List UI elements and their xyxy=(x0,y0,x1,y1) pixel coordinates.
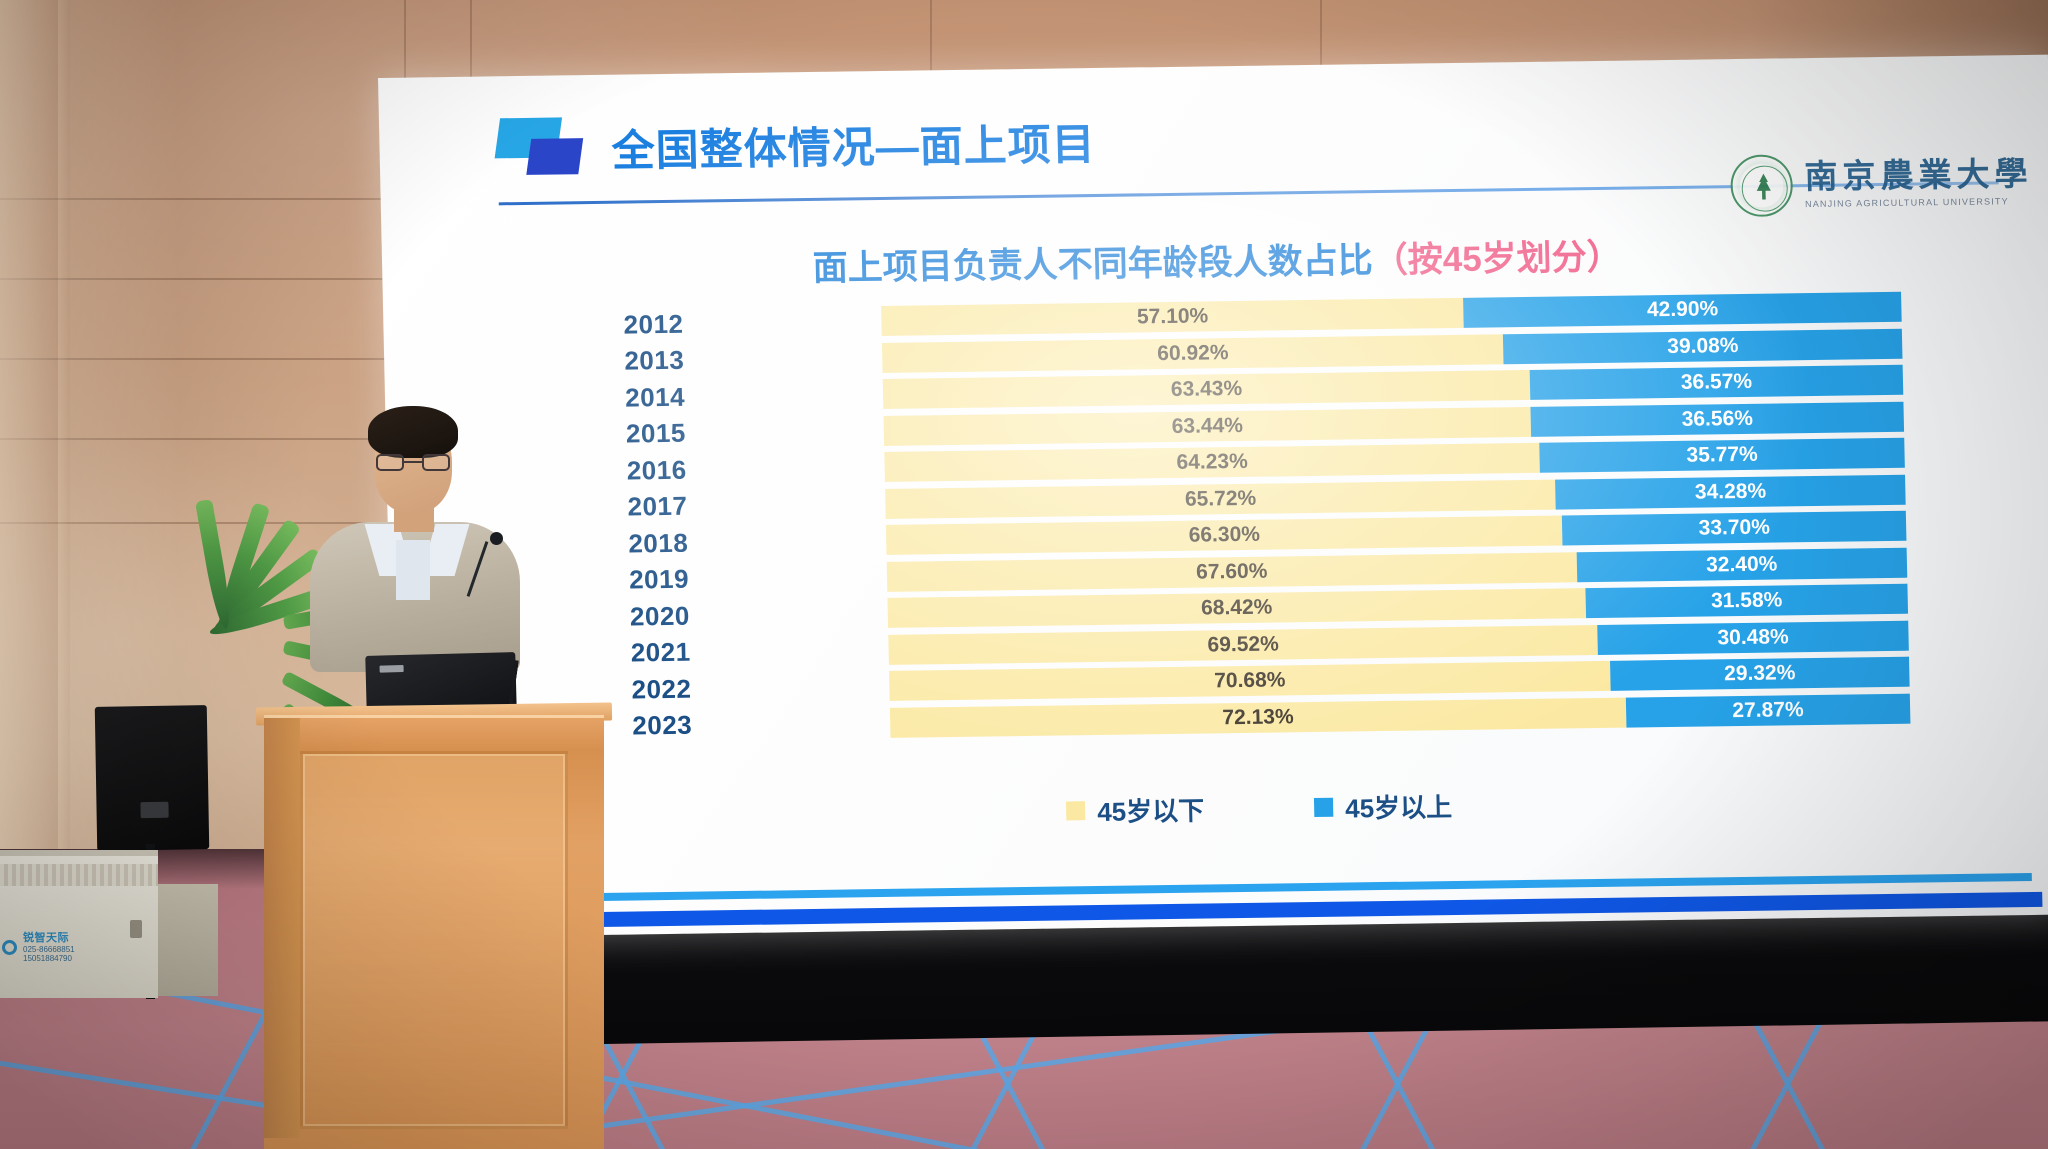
bar-value-label: 42.90% xyxy=(1647,298,1719,323)
university-seal-icon xyxy=(1730,154,1793,217)
bar-segment-under-45: 57.10% xyxy=(881,298,1464,336)
presenter-shirt xyxy=(396,540,430,600)
bar-value-label: 30.48% xyxy=(1717,625,1789,650)
wooden-podium xyxy=(264,715,604,1149)
legend-item[interactable]: 45岁以上 xyxy=(1314,787,1453,826)
bar-value-label: 64.23% xyxy=(1176,450,1248,475)
bar-value-label: 29.32% xyxy=(1724,662,1796,687)
presenter-hair xyxy=(368,406,458,458)
year-label: 2017 xyxy=(585,491,714,524)
bar-segment-over-45: 36.56% xyxy=(1531,401,1905,436)
vendor-brand-name: 锐智天际 xyxy=(23,932,75,945)
year-label: 2018 xyxy=(586,527,715,560)
conference-room-scene: 全国整体情况—面上项目 南京農業大學 NANJING AGRICULTURAL … xyxy=(0,0,2048,1149)
bar-segment-over-45: 30.48% xyxy=(1597,620,1909,654)
bar-segment-under-45: 63.43% xyxy=(883,370,1531,409)
case-latch-icon xyxy=(130,920,142,938)
projection-screen: 全国整体情况—面上项目 南京農業大學 NANJING AGRICULTURAL … xyxy=(378,55,2048,938)
secondary-equipment-case xyxy=(152,884,218,996)
bar-value-label: 69.52% xyxy=(1207,632,1279,657)
year-label: 2014 xyxy=(583,381,712,414)
bar-value-label: 34.28% xyxy=(1695,479,1767,504)
blue-squares-logo-icon xyxy=(497,117,586,180)
bar-value-label: 33.70% xyxy=(1698,516,1770,541)
legend-swatch-icon xyxy=(1314,798,1333,817)
bar-segment-over-45: 42.90% xyxy=(1463,292,1901,328)
year-label: 2016 xyxy=(584,454,713,487)
bar-value-label: 70.68% xyxy=(1214,669,1286,694)
presenter-glasses xyxy=(376,454,450,471)
bar-segment-under-45: 63.44% xyxy=(884,407,1532,446)
bar-segment-under-45: 65.72% xyxy=(885,479,1556,518)
presentation-slide: 全国整体情况—面上项目 南京農業大學 NANJING AGRICULTURAL … xyxy=(378,55,2048,938)
bar-segment-under-45: 67.60% xyxy=(887,552,1577,592)
stacked-bar-chart: 201257.10%42.90%201360.92%39.08%201463.4… xyxy=(581,289,1911,777)
bar-segment-over-45: 34.28% xyxy=(1555,474,1905,509)
vendor-ring-icon xyxy=(2,940,17,955)
bar-value-label: 36.56% xyxy=(1681,407,1753,432)
presenter-person xyxy=(286,400,546,660)
bar-segment-over-45: 32.40% xyxy=(1576,547,1907,582)
year-label: 2021 xyxy=(588,637,717,670)
legend-swatch-icon xyxy=(1066,801,1085,820)
podium-side-panel xyxy=(264,718,300,1138)
microphone-head-icon xyxy=(490,532,503,545)
bar-segment-over-45: 36.57% xyxy=(1530,365,1904,400)
year-label: 2013 xyxy=(582,345,711,378)
year-label: 2015 xyxy=(583,418,712,451)
bar-value-label: 67.60% xyxy=(1196,559,1268,584)
bar-segment-over-45: 29.32% xyxy=(1610,657,1910,691)
bar-value-label: 39.08% xyxy=(1667,334,1739,359)
legend-label: 45岁以下 xyxy=(1097,791,1205,829)
year-label: 2020 xyxy=(587,600,716,633)
legend-label: 45岁以上 xyxy=(1345,787,1453,825)
podium-front-panel xyxy=(300,751,568,1129)
bar-value-label: 57.10% xyxy=(1137,305,1209,330)
bar-segment-over-45: 35.77% xyxy=(1539,438,1904,473)
bar-segment-under-45: 60.92% xyxy=(882,334,1504,373)
bar-segment-over-45: 33.70% xyxy=(1562,511,1906,546)
university-name-cn: 南京農業大學 xyxy=(1804,158,2033,194)
speaker-badge-icon xyxy=(140,802,168,818)
bar-value-label: 63.43% xyxy=(1171,377,1243,402)
chart-title: 面上项目负责人不同年龄段人数占比（按45岁划分） xyxy=(382,223,2048,297)
vendor-phone-primary: 025-86668851 xyxy=(23,945,75,954)
bar-value-label: 68.42% xyxy=(1201,596,1273,621)
case-vendor-label: 锐智天际 025-86668851 15051884790 xyxy=(2,932,75,963)
laptop-brand-logo xyxy=(380,665,404,673)
bar-value-label: 32.40% xyxy=(1706,552,1778,577)
slide-title: 全国整体情况—面上项目 xyxy=(611,110,1096,179)
year-label: 2019 xyxy=(587,564,716,597)
pa-speaker xyxy=(95,705,209,851)
bar-value-label: 35.77% xyxy=(1686,443,1758,468)
bar-value-label: 65.72% xyxy=(1185,487,1257,512)
chart-title-main: 面上项目负责人不同年龄段人数占比 xyxy=(812,241,1373,288)
bar-value-label: 72.13% xyxy=(1222,705,1294,730)
legend-item[interactable]: 45岁以下 xyxy=(1066,791,1205,830)
bar-value-label: 63.44% xyxy=(1171,414,1243,439)
bar-segment-under-45: 64.23% xyxy=(884,443,1540,482)
bar-value-label: 66.30% xyxy=(1188,523,1260,548)
bar-segment-over-45: 31.58% xyxy=(1585,584,1908,618)
bar-value-label: 36.57% xyxy=(1681,370,1753,395)
bar-value-label: 60.92% xyxy=(1157,341,1229,366)
university-logo: 南京農業大學 NANJING AGRICULTURAL UNIVERSITY xyxy=(1730,151,2033,217)
bar-value-label: 27.87% xyxy=(1732,698,1804,723)
bar-segment-over-45: 39.08% xyxy=(1503,328,1902,364)
equipment-flight-case: 锐智天际 025-86668851 15051884790 xyxy=(0,850,158,998)
year-label: 2022 xyxy=(589,673,718,706)
bar-segment-under-45: 72.13% xyxy=(890,697,1626,737)
chart-title-highlight: （按45岁划分） xyxy=(1372,238,1622,280)
vendor-phone-secondary: 15051884790 xyxy=(23,954,75,963)
year-label: 2012 xyxy=(581,308,710,341)
bar-value-label: 31.58% xyxy=(1711,589,1783,614)
university-name-en: NANJING AGRICULTURAL UNIVERSITY xyxy=(1805,196,2033,208)
case-ribbing xyxy=(0,864,158,886)
chart-legend: 45岁以下45岁以上 xyxy=(394,779,2048,839)
slide-header: 全国整体情况—面上项目 xyxy=(497,110,1096,180)
bar-segment-over-45: 27.87% xyxy=(1626,693,1911,727)
bar-segment-under-45: 66.30% xyxy=(886,516,1563,555)
